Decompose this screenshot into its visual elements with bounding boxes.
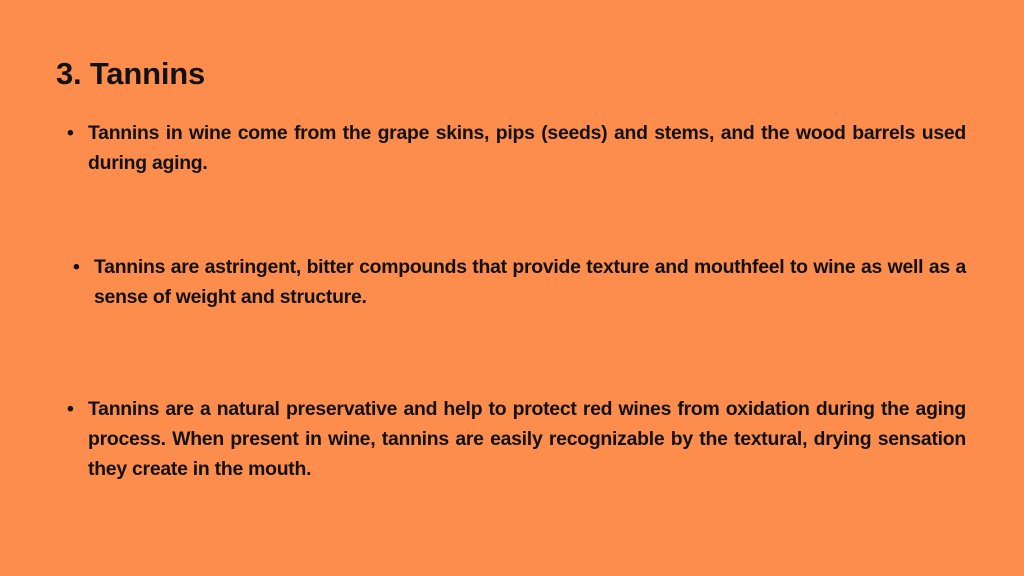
- bullet-point-icon: •: [73, 252, 94, 282]
- list-item: • Tannins in wine come from the grape sk…: [67, 118, 966, 178]
- bullet-list: • Tannins in wine come from the grape sk…: [0, 118, 1024, 484]
- slide-canvas: 3. Tannins • Tannins in wine come from t…: [0, 0, 1024, 576]
- list-item: • Tannins are a natural preservative and…: [67, 394, 966, 484]
- list-item-text: Tannins are a natural preservative and h…: [88, 394, 966, 484]
- bullet-point-icon: •: [67, 118, 88, 148]
- list-item-text: Tannins in wine come from the grape skin…: [88, 118, 966, 178]
- list-item-text: Tannins are astringent, bitter compounds…: [94, 252, 966, 312]
- page-title: 3. Tannins: [56, 57, 205, 91]
- list-item: • Tannins are astringent, bitter compoun…: [73, 252, 966, 312]
- bullet-point-icon: •: [67, 394, 88, 424]
